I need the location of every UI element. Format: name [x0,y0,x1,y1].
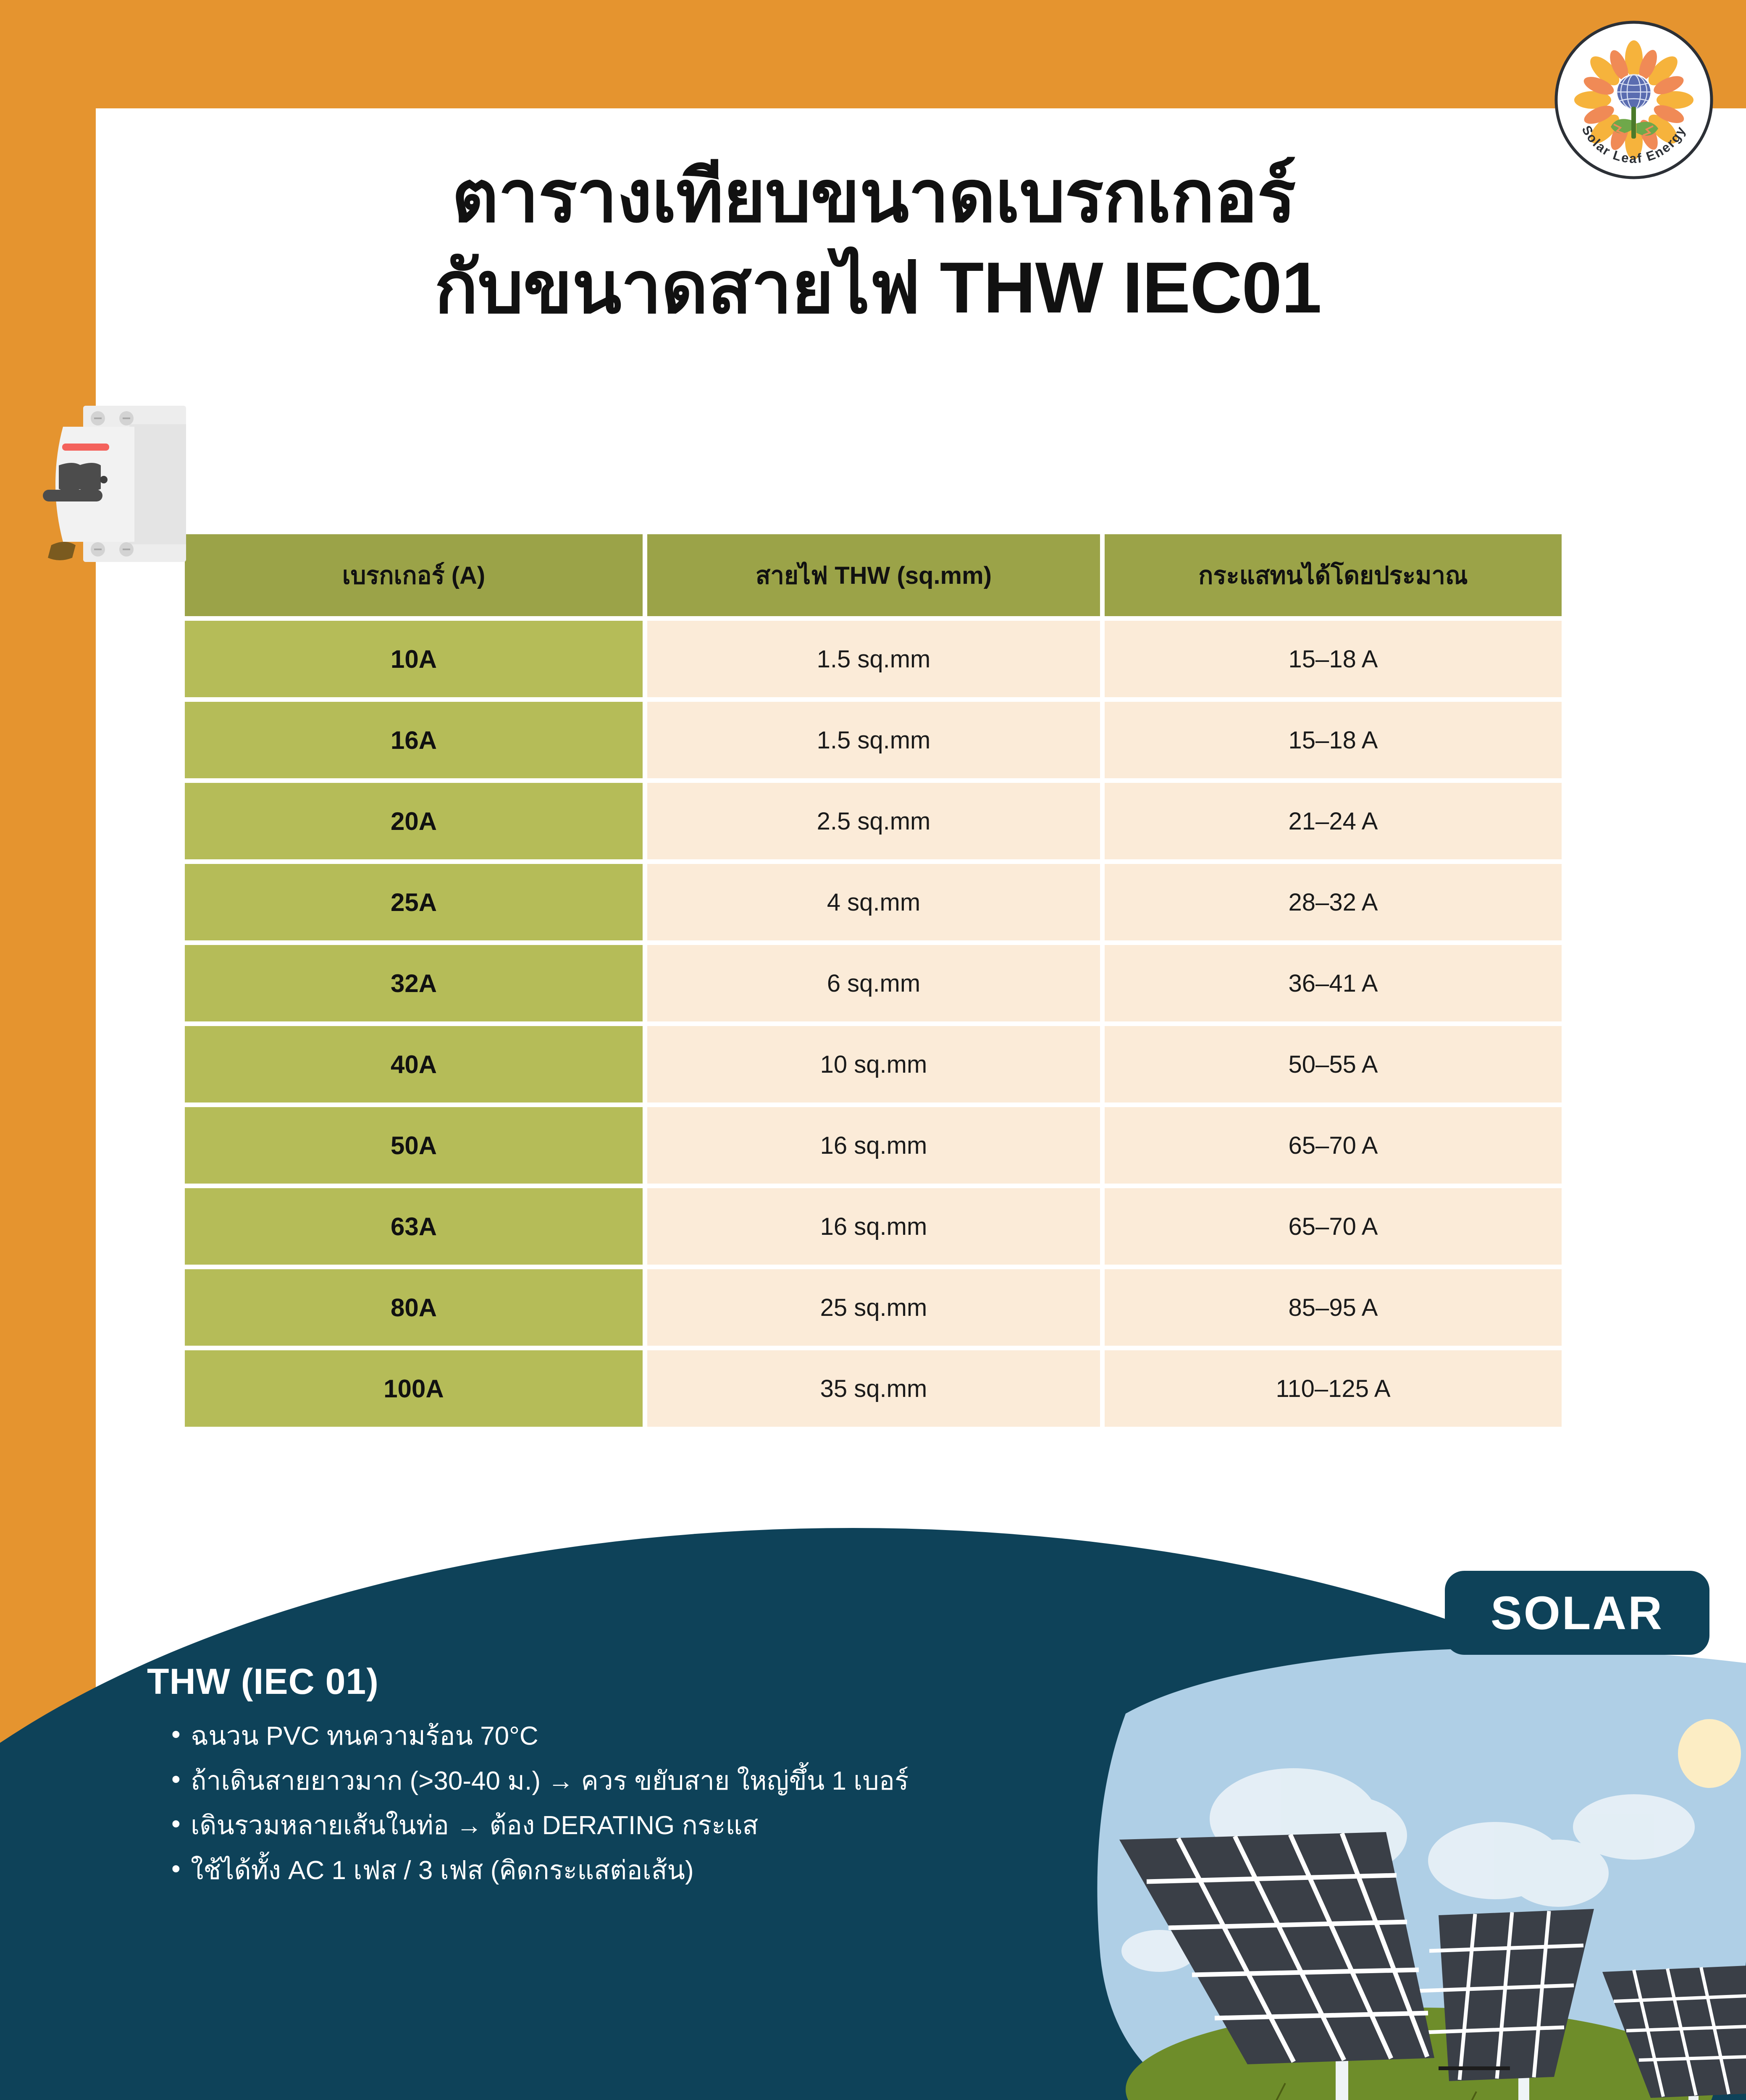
cell-current: 15–18 A [1105,621,1562,697]
table-row: 20A2.5 sq.mm21–24 A [185,783,1562,859]
column-header-breaker: เบรกเกอร์ (A) [185,534,643,616]
cell-breaker: 40A [185,1026,643,1102]
thw-bullet-item: เดินรวมหลายเส้นในท่อ → ต้อง DERATING กระ… [171,1809,1063,1843]
title-line-2: กับขนาดสายไฟ THW IEC01 [235,242,1537,333]
thw-bullet-item: ถ้าเดินสายยาวมาก (>30-40 ม.) → ควร ขยับส… [171,1764,1063,1798]
cell-breaker: 16A [185,702,643,778]
leaf-plug-illustration [67,2008,697,2100]
column-header-current: กระแสทนได้โดยประมาณ [1105,534,1562,616]
thw-section-title: THW (IEC 01) [147,1661,1063,1703]
cell-current: 65–70 A [1105,1188,1562,1265]
breaker-wire-table: เบรกเกอร์ (A) สายไฟ THW (sq.mm) กระแสทนไ… [185,534,1562,1427]
cell-wire: 25 sq.mm [647,1269,1100,1346]
cell-current: 65–70 A [1105,1107,1562,1184]
table-row: 63A16 sq.mm65–70 A [185,1188,1562,1265]
cell-breaker: 32A [185,945,643,1021]
table-row: 16A1.5 sq.mm15–18 A [185,702,1562,778]
table-header-row: เบรกเกอร์ (A) สายไฟ THW (sq.mm) กระแสทนไ… [185,534,1562,616]
thw-bullet-item: ใช้ได้ทั้ง AC 1 เฟส / 3 เฟส (คิดกระแสต่อ… [171,1854,1063,1888]
cell-breaker: 50A [185,1107,643,1184]
cell-breaker: 100A [185,1350,643,1427]
cell-wire: 16 sq.mm [647,1107,1100,1184]
cell-current: 36–41 A [1105,945,1562,1021]
cell-wire: 4 sq.mm [647,864,1100,940]
cell-breaker: 80A [185,1269,643,1346]
table-row: 50A16 sq.mm65–70 A [185,1107,1562,1184]
table-row: 32A6 sq.mm36–41 A [185,945,1562,1021]
solar-leaf-energy-logo: Solar Leaf Energy [1554,20,1714,180]
cell-wire: 10 sq.mm [647,1026,1100,1102]
table-row: 80A25 sq.mm85–95 A [185,1269,1562,1346]
solar-badge: SOLAR [1445,1571,1709,1655]
cell-breaker: 63A [185,1188,643,1265]
table-row: 25A4 sq.mm28–32 A [185,864,1562,940]
cell-wire: 35 sq.mm [647,1350,1100,1427]
page-title: ตารางเทียบขนาดเบรกเกอร์ กับขนาดสายไฟ THW… [235,151,1537,333]
cell-current: 15–18 A [1105,702,1562,778]
thw-bullet-item: ฉนวน PVC ทนความร้อน 70°C [171,1719,1063,1753]
cell-breaker: 10A [185,621,643,697]
cell-wire: 16 sq.mm [647,1188,1100,1265]
cell-current: 85–95 A [1105,1269,1562,1346]
thw-info-panel: THW (IEC 01) ฉนวน PVC ทนความร้อน 70°Cถ้า… [147,1661,1063,1898]
cell-current: 21–24 A [1105,783,1562,859]
cell-wire: 6 sq.mm [647,945,1100,1021]
solar-badge-label: SOLAR [1491,1586,1664,1640]
cell-breaker: 20A [185,783,643,859]
cell-wire: 1.5 sq.mm [647,621,1100,697]
table-row: 100A35 sq.mm110–125 A [185,1350,1562,1427]
cell-current: 110–125 A [1105,1350,1562,1427]
cell-wire: 1.5 sq.mm [647,702,1100,778]
cell-current: 28–32 A [1105,864,1562,940]
title-line-1: ตารางเทียบขนาดเบรกเกอร์ [235,151,1537,242]
cell-wire: 2.5 sq.mm [647,783,1100,859]
poster-canvas: Solar Leaf Energy ตารางเทียบขนาดเบรกเกอร… [0,0,1746,2100]
thw-bullet-list: ฉนวน PVC ทนความร้อน 70°Cถ้าเดินสายยาวมาก… [147,1719,1063,1887]
table-row: 10A1.5 sq.mm15–18 A [185,621,1562,697]
column-header-wire: สายไฟ THW (sq.mm) [647,534,1100,616]
table-row: 40A10 sq.mm50–55 A [185,1026,1562,1102]
cell-breaker: 25A [185,864,643,940]
cell-current: 50–55 A [1105,1026,1562,1102]
solar-panel-illustration [1075,1638,1746,2100]
circuit-breaker-icon [29,391,197,571]
